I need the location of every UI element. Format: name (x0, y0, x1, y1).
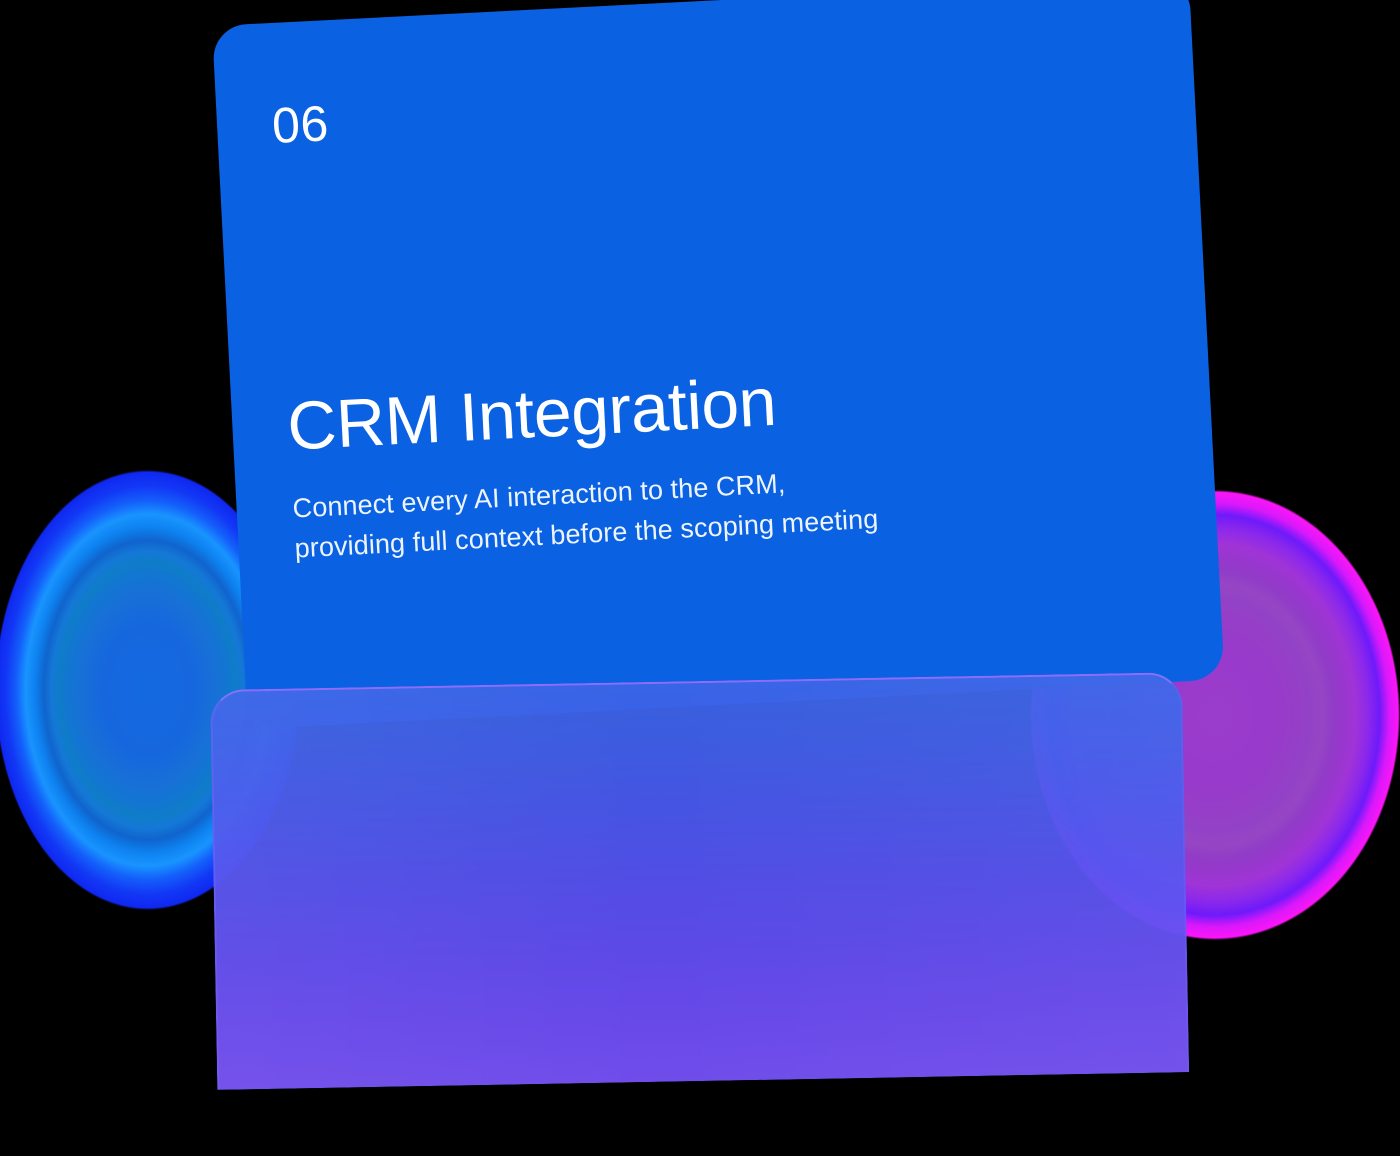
card-subtitle: Connect every AI interaction to the CRM,… (292, 447, 1125, 569)
slide-canvas: 06 CRM Integration Connect every AI inte… (0, 0, 1400, 1156)
card-sheen-overlay (212, 674, 1187, 1090)
feature-card-content: 06 CRM Integration Connect every AI inte… (212, 0, 1225, 729)
feature-card-primary[interactable]: 06 CRM Integration Connect every AI inte… (212, 0, 1225, 729)
card-step-number: 06 (271, 98, 330, 151)
card-title: CRM Integration (286, 365, 778, 462)
feature-card-secondary[interactable] (210, 672, 1189, 1090)
